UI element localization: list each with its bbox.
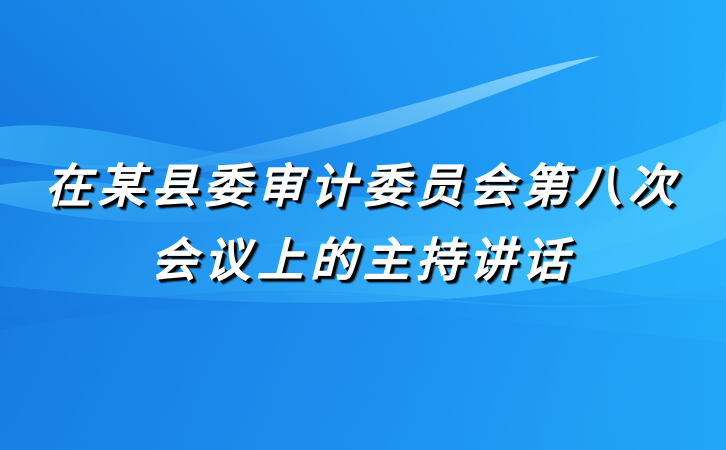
title-line-1: 在某县委审计委员会第八次 <box>0 150 726 224</box>
title-line-2: 会议上的主持讲话 <box>0 224 726 298</box>
banner-title: 在某县委审计委员会第八次 会议上的主持讲话 <box>0 150 726 298</box>
title-banner: 在某县委审计委员会第八次 会议上的主持讲话 <box>0 0 726 450</box>
